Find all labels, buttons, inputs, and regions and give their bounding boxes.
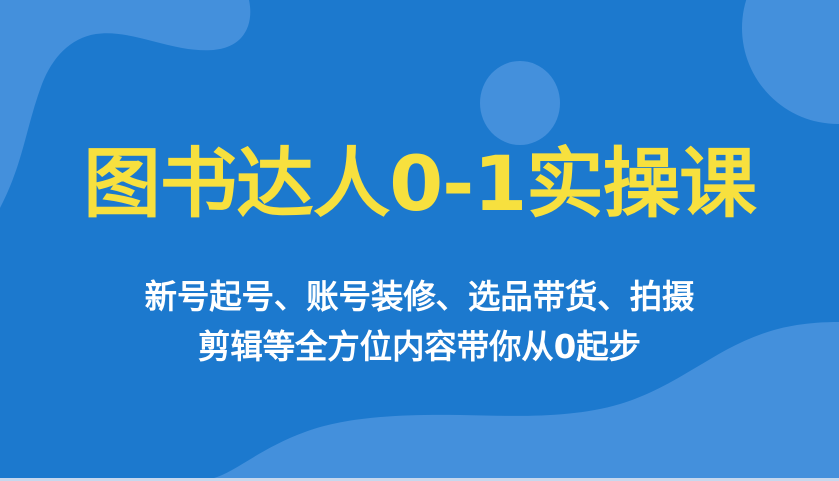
subtitle-line-1: 新号起号、账号装修、选品带货、拍摄 [8,272,830,322]
course-promo-banner: 图书达人0-1实操课 新号起号、账号装修、选品带货、拍摄 剪辑等全方位内容带你从… [0,0,839,481]
text-content-layer: 图书达人0-1实操课 新号起号、账号装修、选品带货、拍摄 剪辑等全方位内容带你从… [0,0,839,481]
page-title: 图书达人0-1实操课 [0,136,839,232]
subtitle-block: 新号起号、账号装修、选品带货、拍摄 剪辑等全方位内容带你从0起步 [0,272,839,372]
subtitle-line-2: 剪辑等全方位内容带你从0起步 [8,322,830,372]
